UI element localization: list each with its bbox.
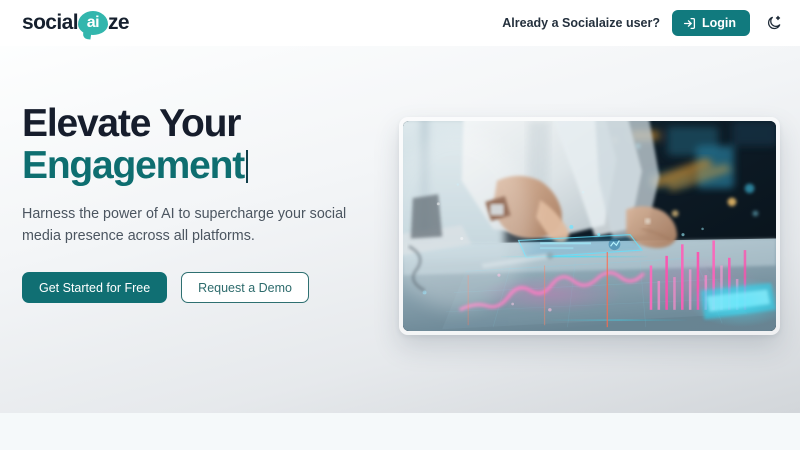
next-section-strip xyxy=(0,413,800,450)
logo-bubble-label: ai xyxy=(87,15,99,31)
hero-headline: Elevate Your Engagement xyxy=(22,103,382,187)
hero-section: Elevate Your Engagement Harness the powe… xyxy=(0,46,800,413)
site-header: social ai ze Already a Socialaize user? … xyxy=(0,0,800,46)
logo-ai-bubble-icon: ai xyxy=(78,11,108,35)
request-demo-button[interactable]: Request a Demo xyxy=(181,272,309,303)
hero-image-frame xyxy=(399,117,780,335)
hero-image-artwork xyxy=(403,121,776,331)
get-started-button[interactable]: Get Started for Free xyxy=(22,272,167,303)
header-actions: Already a Socialaize user? Login xyxy=(502,10,786,36)
hero-image xyxy=(403,121,776,331)
brand-logo[interactable]: social ai ze xyxy=(22,8,129,38)
dark-mode-toggle[interactable] xyxy=(762,11,786,35)
headline-line-2-accent: Engagement xyxy=(22,145,244,187)
logo-suffix: ze xyxy=(108,11,129,35)
logo-wordmark: social ai ze xyxy=(22,11,129,35)
login-prompt-text: Already a Socialaize user? xyxy=(502,16,660,30)
logo-prefix: social xyxy=(22,11,78,35)
hero-copy-block: Elevate Your Engagement Harness the powe… xyxy=(22,103,382,303)
hero-subheadline: Harness the power of AI to supercharge y… xyxy=(22,204,367,247)
login-button[interactable]: Login xyxy=(672,10,750,36)
headline-line-1: Elevate Your xyxy=(22,102,240,145)
typing-caret xyxy=(246,150,248,183)
sign-in-icon xyxy=(683,17,696,30)
moon-star-icon xyxy=(766,15,782,31)
hero-cta-row: Get Started for Free Request a Demo xyxy=(22,272,382,303)
login-button-label: Login xyxy=(702,16,736,30)
